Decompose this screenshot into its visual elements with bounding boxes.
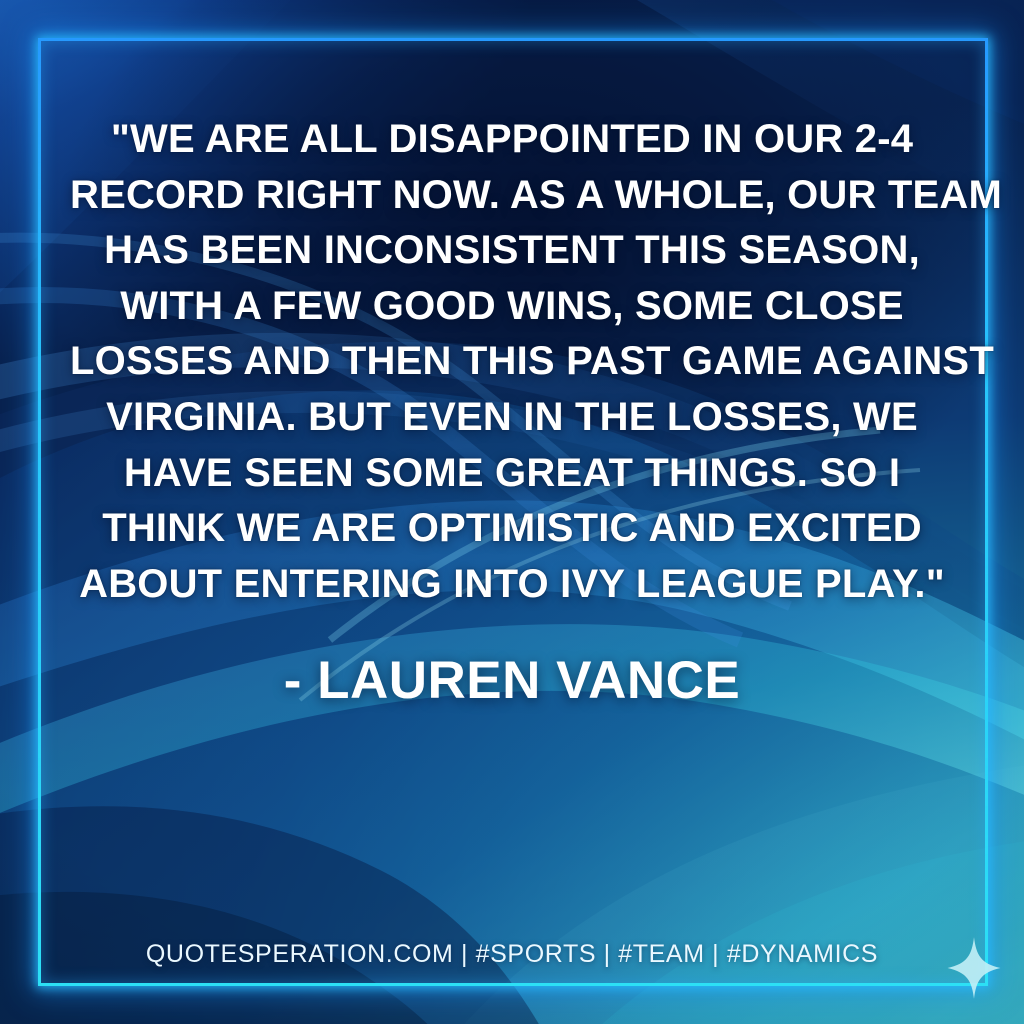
quote-line: THINK WE ARE OPTIMISTIC AND EXCITED (70, 501, 954, 557)
quote-line: LOSSES AND THEN THIS PAST GAME AGAINST (70, 334, 954, 390)
footer-bar: QUOTESPERATION.COM | #SPORTS | #TEAM | #… (0, 940, 1024, 969)
quote-line: "WE ARE ALL DISAPPOINTED IN OUR 2-4 (70, 112, 954, 168)
quote-text: "WE ARE ALL DISAPPOINTED IN OUR 2-4 RECO… (70, 112, 954, 612)
quote-line: HAS BEEN INCONSISTENT THIS SEASON, (70, 223, 954, 279)
quote-card: "WE ARE ALL DISAPPOINTED IN OUR 2-4 RECO… (0, 0, 1024, 1024)
quote-line: VIRGINIA. BUT EVEN IN THE LOSSES, WE (70, 390, 954, 446)
card-content: "WE ARE ALL DISAPPOINTED IN OUR 2-4 RECO… (0, 0, 1024, 1024)
sparkle-star-icon (946, 936, 1002, 1000)
quote-line: RECORD RIGHT NOW. AS A WHOLE, OUR TEAM (70, 168, 954, 224)
quote-line: HAVE SEEN SOME GREAT THINGS. SO I (70, 446, 954, 502)
quote-line: WITH A FEW GOOD WINS, SOME CLOSE (70, 279, 954, 335)
quote-attribution: - LAUREN VANCE (70, 650, 954, 711)
footer-credit-text: QUOTESPERATION.COM | #SPORTS | #TEAM | #… (146, 940, 878, 969)
quote-line: ABOUT ENTERING INTO IVY LEAGUE PLAY." (70, 557, 954, 613)
